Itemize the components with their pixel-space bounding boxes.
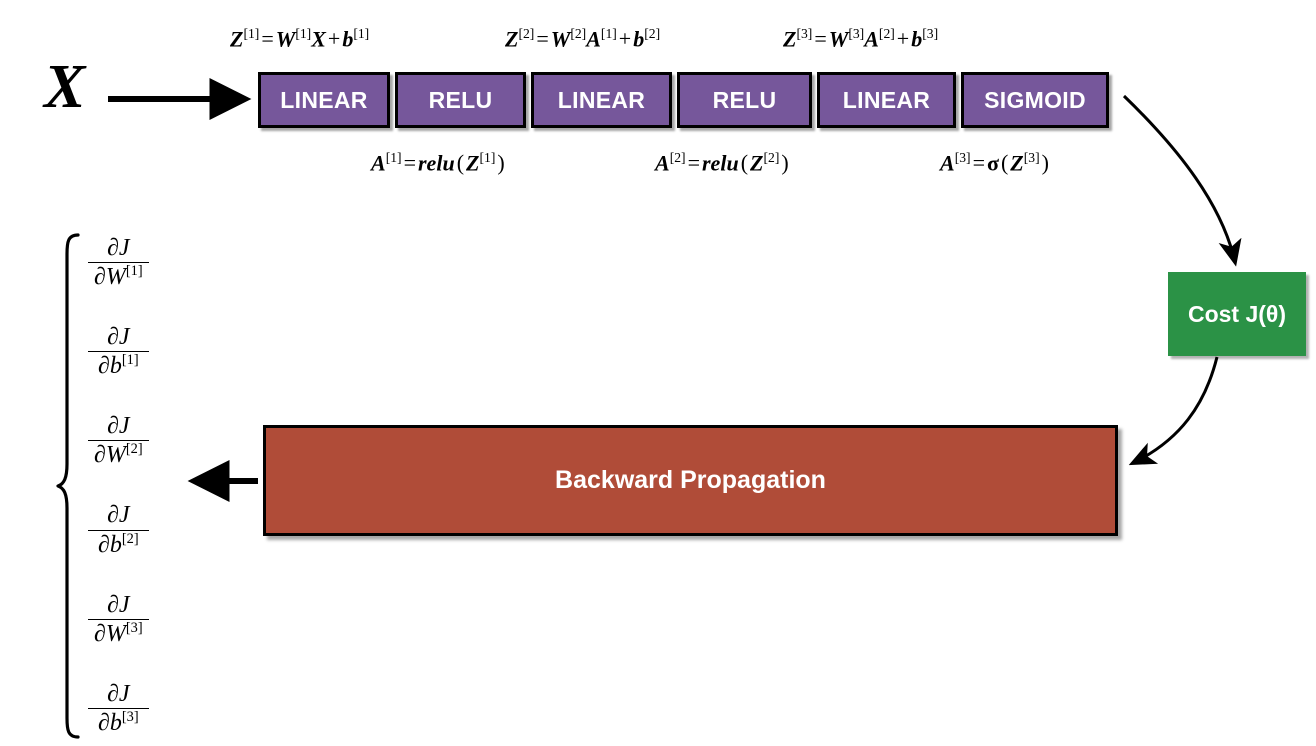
layer-box-linear-1[interactable]: LINEAR: [258, 72, 390, 128]
layer-box-linear-3[interactable]: LINEAR: [817, 72, 956, 128]
gradient-item: ∂J ∂b[3]: [88, 682, 149, 736]
gradient-denominator: ∂b[2]: [88, 530, 149, 558]
formula-a1: A[1]=relu(Z[1]): [371, 150, 507, 176]
gradient-denominator: ∂b[1]: [88, 351, 149, 379]
cost-box[interactable]: Cost J(θ): [1168, 272, 1306, 356]
layer-box-sigmoid[interactable]: SIGMOID: [961, 72, 1109, 128]
gradient-numerator: ∂J: [88, 503, 149, 529]
gradient-denominator: ∂W[1]: [88, 262, 149, 290]
layer-sequence: LINEAR RELU LINEAR RELU LINEAR SIGMOID: [258, 72, 1109, 128]
cost-label: Cost J(θ): [1188, 301, 1286, 328]
input-label-x: X: [44, 56, 85, 118]
layer-label: RELU: [713, 87, 777, 114]
sigmoid-to-cost-arrow: [1124, 96, 1235, 262]
layer-label: LINEAR: [558, 87, 645, 114]
gradient-numerator: ∂J: [88, 236, 149, 262]
gradient-denominator: ∂W[3]: [88, 619, 149, 647]
layer-label: LINEAR: [843, 87, 930, 114]
gradient-numerator: ∂J: [88, 682, 149, 708]
gradients-group: ∂J ∂W[1] ∂J ∂b[1] ∂J ∂W[2] ∂J ∂b[2] ∂J ∂…: [56, 232, 149, 740]
formula-a2: A[2]=relu(Z[2]): [655, 150, 791, 176]
gradients-brace: [56, 232, 82, 740]
diagram-canvas: X Z[1]=W[1]X+b[1] Z[2]=W[2]A[1]+b[2] Z[3…: [0, 0, 1316, 746]
layer-box-relu-2[interactable]: RELU: [677, 72, 812, 128]
backward-propagation-box[interactable]: Backward Propagation: [263, 425, 1118, 536]
formula-z2: Z[2]=W[2]A[1]+b[2]: [505, 26, 660, 52]
gradient-item: ∂J ∂b[1]: [88, 325, 149, 379]
layer-label: RELU: [429, 87, 493, 114]
layer-box-relu-1[interactable]: RELU: [395, 72, 526, 128]
formula-z1: Z[1]=W[1]X+b[1]: [230, 26, 369, 52]
layer-box-linear-2[interactable]: LINEAR: [531, 72, 672, 128]
gradient-item: ∂J ∂b[2]: [88, 503, 149, 557]
cost-to-backward-arrow: [1133, 357, 1217, 463]
formula-a3: A[3]=σ(Z[3]): [940, 150, 1051, 176]
gradient-numerator: ∂J: [88, 593, 149, 619]
formula-z3: Z[3]=W[3]A[2]+b[3]: [783, 26, 938, 52]
gradient-item: ∂J ∂W[1]: [88, 236, 149, 290]
layer-label: SIGMOID: [984, 87, 1086, 114]
layer-label: LINEAR: [280, 87, 367, 114]
gradient-item: ∂J ∂W[2]: [88, 414, 149, 468]
gradient-numerator: ∂J: [88, 414, 149, 440]
gradients-list: ∂J ∂W[1] ∂J ∂b[1] ∂J ∂W[2] ∂J ∂b[2] ∂J ∂…: [82, 236, 149, 736]
gradient-denominator: ∂W[2]: [88, 440, 149, 468]
gradient-numerator: ∂J: [88, 325, 149, 351]
gradient-denominator: ∂b[3]: [88, 708, 149, 736]
gradient-item: ∂J ∂W[3]: [88, 593, 149, 647]
backward-label: Backward Propagation: [555, 466, 826, 495]
